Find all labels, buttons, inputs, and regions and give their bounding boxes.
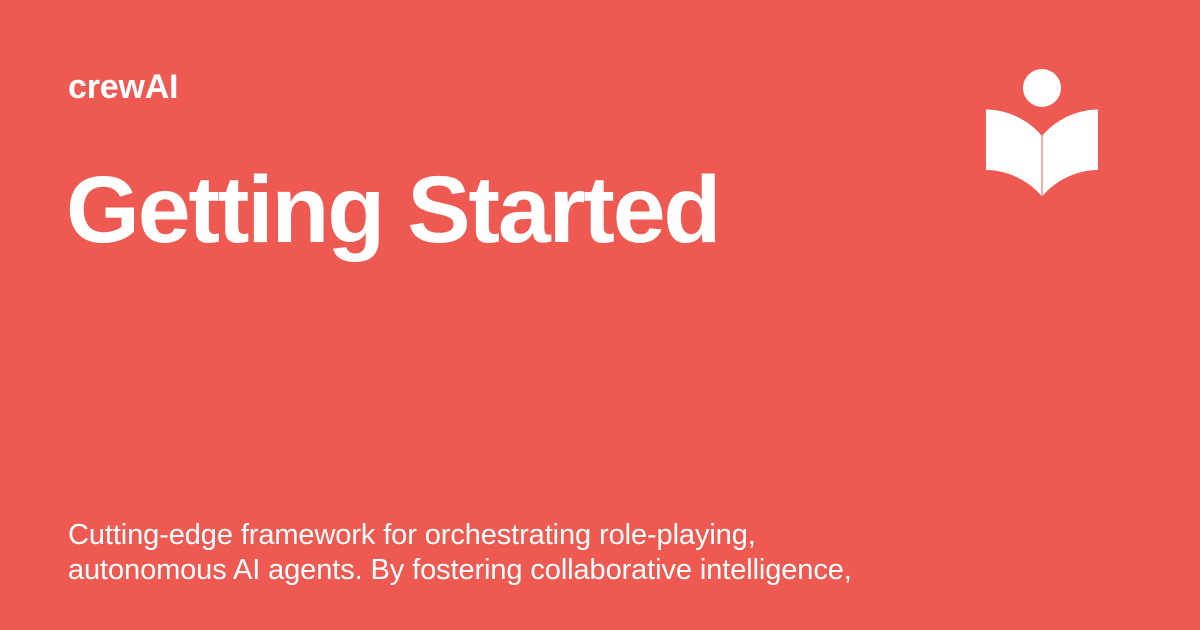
page-description: Cutting-edge framework for orchestrating… — [68, 518, 948, 588]
page-title: Getting Started — [66, 160, 719, 261]
open-book-reader-icon — [986, 64, 1098, 196]
brand-wordmark: crewAI — [68, 70, 178, 104]
description-line-1: Cutting-edge framework for orchestrating… — [68, 518, 948, 553]
open-graph-card: crewAI Getting Started Cutting-edge fram… — [0, 0, 1200, 630]
description-line-2: autonomous AI agents. By fostering colla… — [68, 553, 948, 588]
